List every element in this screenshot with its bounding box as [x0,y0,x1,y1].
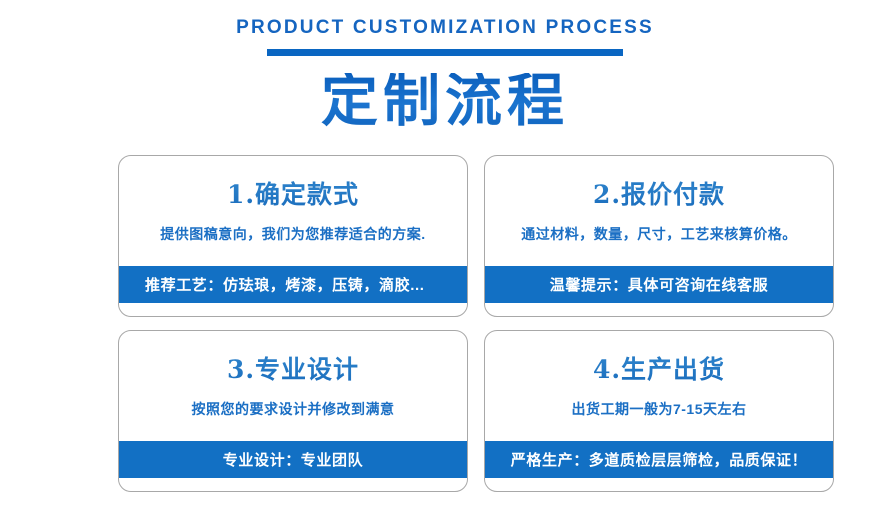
process-steps-grid: 1.确定款式 提供图稿意向，我们为您推荐适合的方案. 推荐工艺：仿珐琅，烤漆，压… [118,155,834,492]
step-heading: 3.专业设计 [119,331,467,382]
step-subtitle: 提供图稿意向，我们为您推荐适合的方案. [119,227,467,241]
step-subtitle: 出货工期一般为7-15天左右 [485,402,833,416]
process-step-card-1: 1.确定款式 提供图稿意向，我们为您推荐适合的方案. 推荐工艺：仿珐琅，烤漆，压… [118,155,468,317]
step-band: 专业设计：专业团队 [119,441,467,478]
product-customization-process-banner: PRODUCT CUSTOMIZATION PROCESS 定制流程 1.确定款… [0,0,890,514]
header-divider-rule [267,49,623,56]
step-band: 严格生产：多道质检层层筛检，品质保证！ [485,441,833,478]
page-title: 定制流程 [0,73,890,130]
process-step-card-4: 4.生产出货 出货工期一般为7-15天左右 严格生产：多道质检层层筛检，品质保证… [484,330,834,492]
step-band: 推荐工艺：仿珐琅，烤漆，压铸，滴胶... [119,266,467,303]
eyebrow-title: PRODUCT CUSTOMIZATION PROCESS [0,0,890,37]
process-step-card-3: 3.专业设计 按照您的要求设计并修改到满意 专业设计：专业团队 [118,330,468,492]
step-subtitle: 按照您的要求设计并修改到满意 [119,402,467,416]
step-heading: 1.确定款式 [119,156,467,207]
step-band: 温馨提示：具体可咨询在线客服 [485,266,833,303]
step-heading: 4.生产出货 [485,331,833,382]
page-header: PRODUCT CUSTOMIZATION PROCESS 定制流程 [0,0,890,130]
step-subtitle: 通过材料，数量，尺寸，工艺来核算价格。 [485,227,833,241]
step-heading: 2.报价付款 [485,156,833,207]
process-step-card-2: 2.报价付款 通过材料，数量，尺寸，工艺来核算价格。 温馨提示：具体可咨询在线客… [484,155,834,317]
